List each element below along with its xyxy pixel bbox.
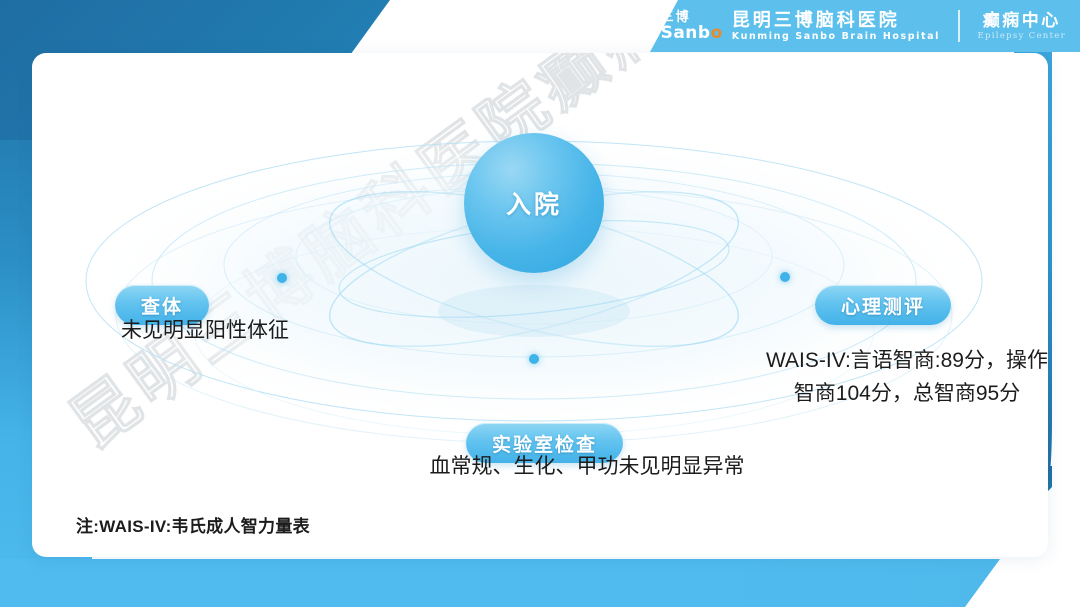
header-divider [958,10,960,42]
logo-mark-cn: 三博 [661,10,691,23]
footer-note: 注:WAIS-IV:韦氏成人智力量表 [76,512,310,537]
slide-canvas: 三博 Sanbo 昆明三博脑科医院 Kunming Sanbo Brain Ho… [0,0,1080,607]
logo-mark-accent-o: o [711,23,723,43]
hub-sphere[interactable]: 入院 [464,133,604,273]
node-dot-psych [780,272,790,282]
sanbo-logo-mark: 三博 Sanbo [661,10,723,42]
hospital-name-block: 昆明三博脑科医院 Kunming Sanbo Brain Hospital [732,11,940,42]
hospital-name-en: Kunming Sanbo Brain Hospital [732,32,940,42]
logo-mark-en: Sanbo [661,25,723,42]
content-card: 昆明三博脑科医院癫痫中心 [32,53,1048,557]
brand-logo: 三博 Sanbo 昆明三博脑科医院 Kunming Sanbo Brain Ho… [661,10,1066,42]
description-exam: 未见明显阳性体征 [70,315,340,348]
node-dot-exam [277,273,287,283]
header-banner: 三博 Sanbo 昆明三博脑科医院 Kunming Sanbo Brain Ho… [650,0,1080,52]
center-name-en: Epilepsy Center [978,32,1066,41]
badge-psych[interactable]: 心理测评 [815,285,951,325]
bottom-accent-bar [0,559,1000,607]
description-lab: 血常规、生化、甲功未见明显异常 [362,451,812,484]
node-dot-lab [529,354,539,364]
hospital-name-cn: 昆明三博脑科医院 [732,11,900,29]
logo-mark-en-text: Sanb [661,23,711,43]
description-psych: WAIS-IV:言语智商:89分，操作智商104分，总智商95分 [762,345,1048,410]
center-name-cn: 癫痫中心 [983,12,1061,29]
hub-sphere-label: 入院 [506,185,562,221]
badge-psych-label: 心理测评 [841,292,925,319]
center-name-block: 癫痫中心 Epilepsy Center [978,12,1066,41]
